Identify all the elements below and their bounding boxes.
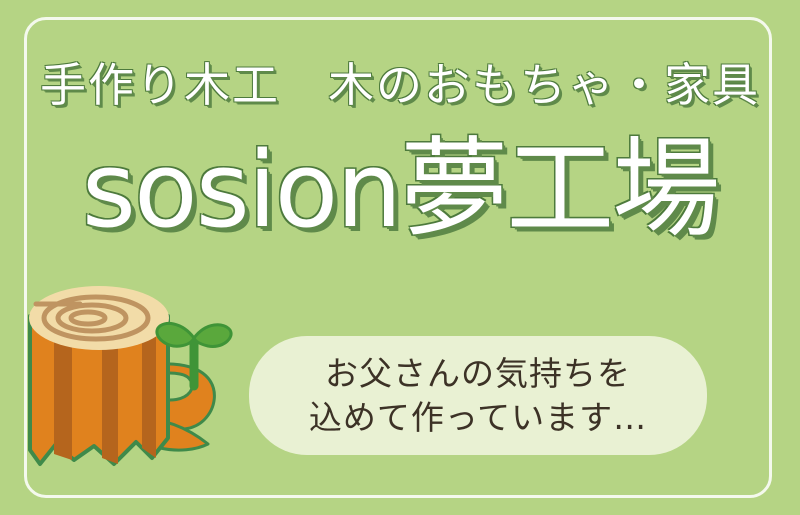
speech-bubble: お父さんの気持ちを 込めて作っています…: [249, 336, 707, 455]
sprout-leaf-left: [157, 323, 194, 346]
speech-bubble-line-1: お父さんの気持ちを: [325, 352, 631, 396]
speech-bubble-line-2: 込めて作っています…: [309, 396, 647, 440]
title-japanese-yumekoujou: 夢工場: [400, 136, 718, 244]
tree-stump-icon: [18, 278, 248, 483]
main-title: sosion夢工場: [0, 136, 800, 244]
sprout-leaf-right: [194, 325, 231, 347]
banner-root: 手作り木工 木のおもちゃ・家具 sosion夢工場: [0, 0, 800, 515]
tagline: 手作り木工 木のおもちゃ・家具: [0, 62, 800, 108]
title-latin-sosion: sosion: [82, 138, 400, 242]
